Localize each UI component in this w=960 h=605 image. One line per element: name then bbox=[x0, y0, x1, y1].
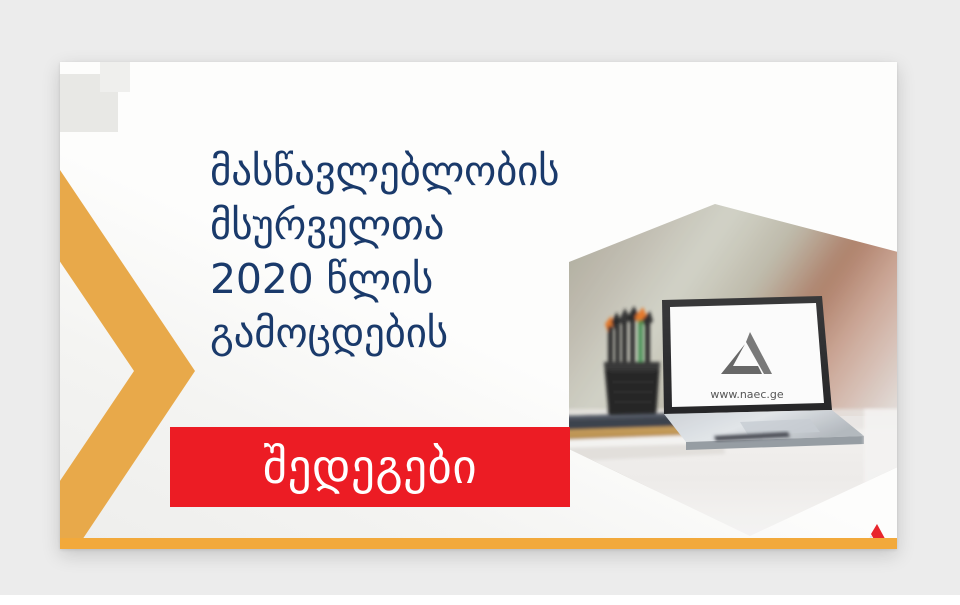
results-banner-label: შედეგები bbox=[263, 444, 477, 491]
decorative-square-small bbox=[100, 62, 130, 92]
page-title: მასწავლებლობის მსურველთა 2020 წლის გამოც… bbox=[210, 144, 610, 360]
results-banner: შედეგები bbox=[170, 427, 570, 507]
page-bottom-strip bbox=[0, 595, 960, 605]
headline-line-4: გამოცდების bbox=[210, 306, 610, 360]
banner-stage: www.naec.ge bbox=[0, 0, 960, 605]
headline-line-2: მსურველთა bbox=[210, 198, 610, 252]
hexagon-photo: www.naec.ge bbox=[564, 204, 897, 536]
gold-accent-bar bbox=[60, 538, 897, 549]
headline-line-3: 2020 წლის bbox=[210, 252, 610, 306]
banner-card: www.naec.ge bbox=[60, 62, 897, 549]
headline-line-1: მასწავლებლობის bbox=[210, 144, 610, 198]
